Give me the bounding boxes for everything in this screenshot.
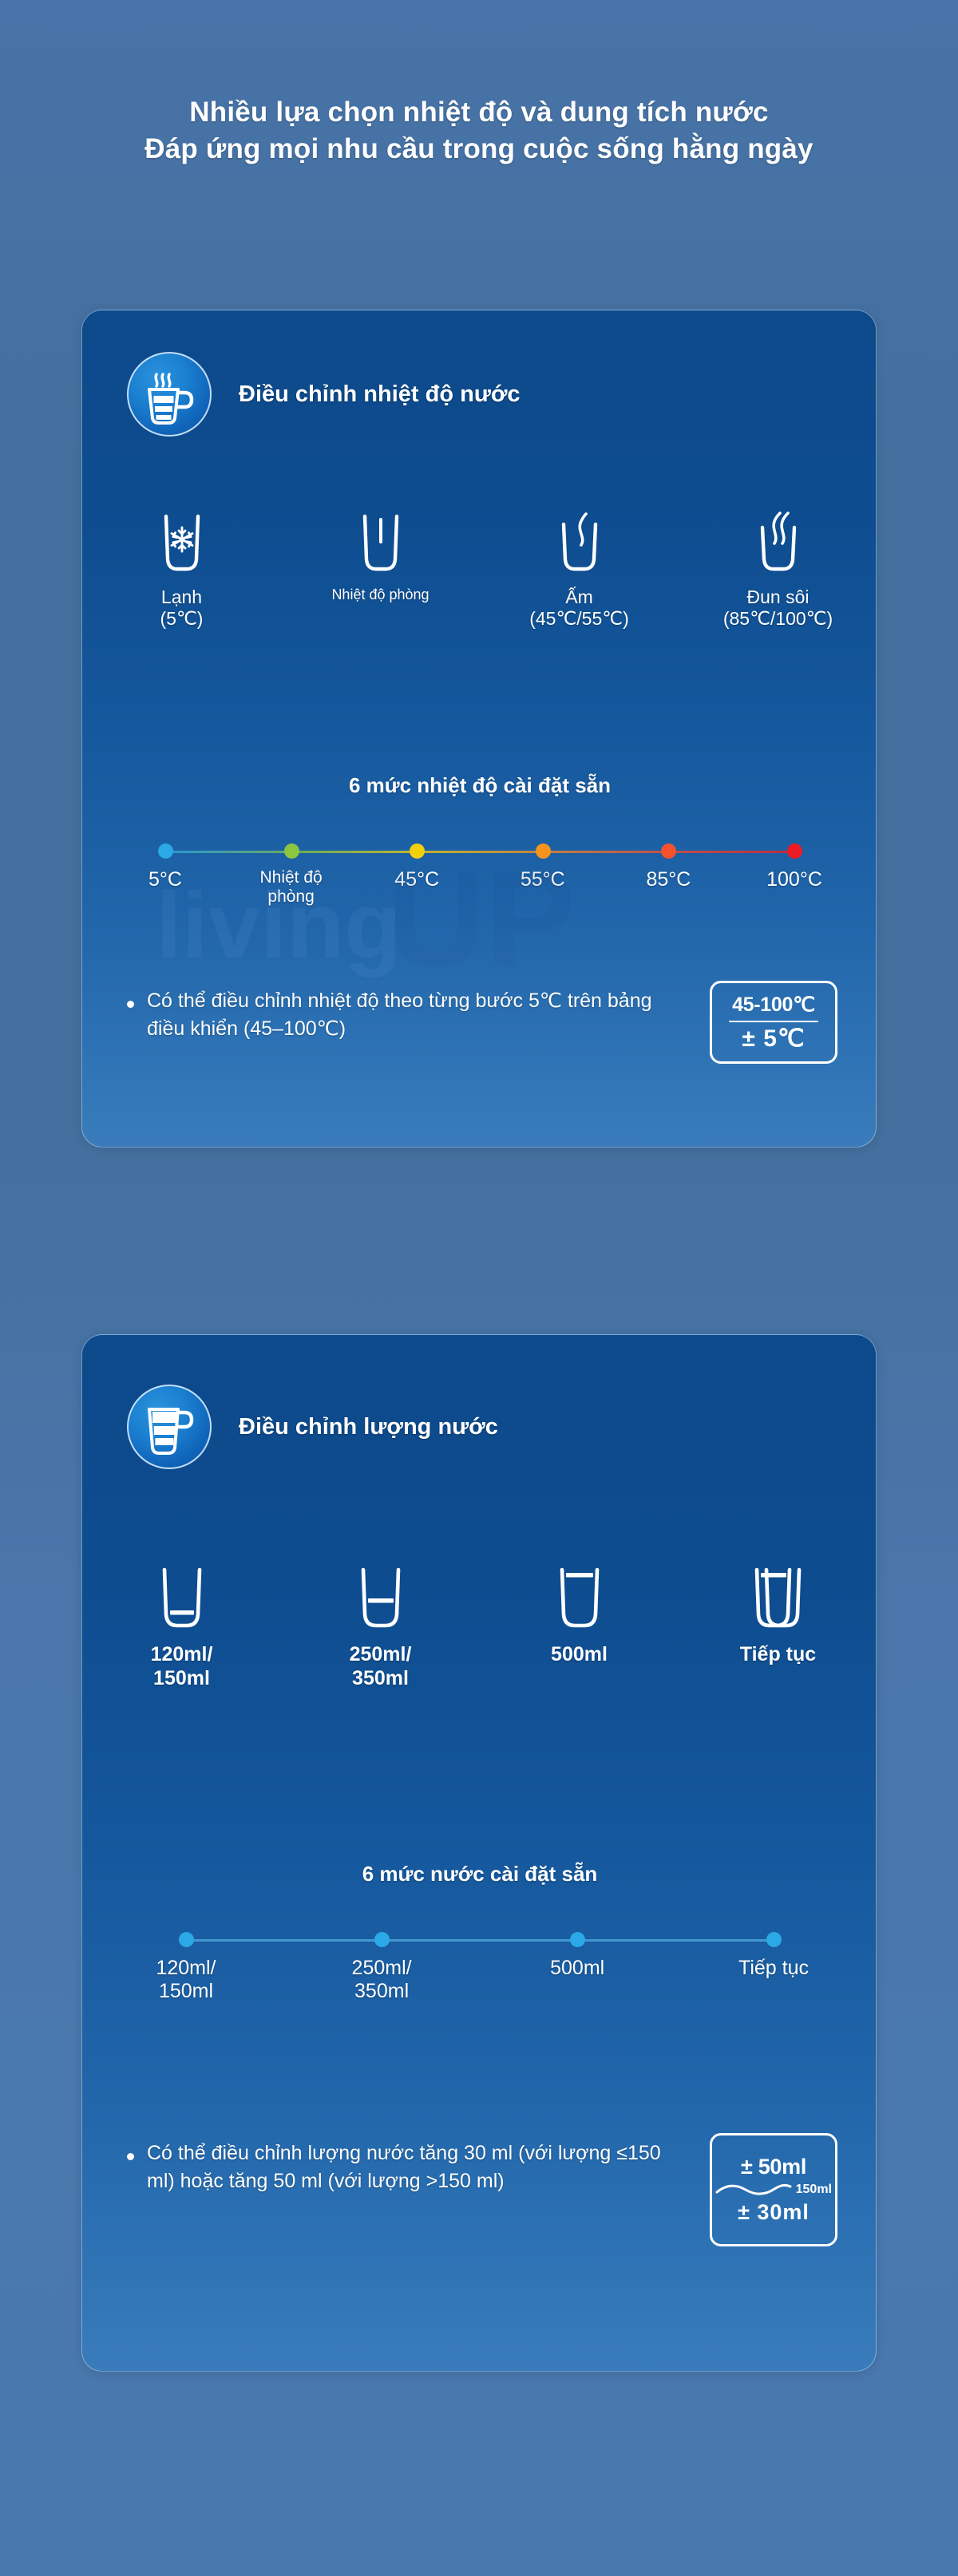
slider-dot-0[interactable] (179, 1932, 194, 1947)
temperature-note-text: Có thể điều chỉnh nhiệt độ theo từng bướ… (147, 987, 687, 1042)
volume-note-text: Có thể điều chỉnh lượng nước tăng 30 ml … (147, 2139, 687, 2195)
slider-tick-label-3: Tiếp tục (714, 1957, 833, 1980)
temperature-option-room[interactable]: Nhiệt độ phòng (281, 510, 480, 630)
volume-options-row: 120ml/ 150ml 250ml/ 350ml (82, 1567, 877, 1690)
water-wave-row: 150ml (714, 2179, 833, 2200)
volume-option-continuous-label: Tiếp tục (740, 1643, 816, 1667)
volume-option-120-150[interactable]: 120ml/ 150ml (82, 1567, 281, 1690)
volume-step-small-value: ± 30ml (738, 2200, 810, 2225)
volume-option-500[interactable]: 500ml (480, 1567, 679, 1690)
volume-slider-ticks: 120ml/150ml250ml/350ml500mlTiếp tục (82, 1957, 877, 2013)
temperature-option-cold[interactable]: Lạnh (5℃) (82, 510, 281, 630)
temperature-note-bullet: Có thể điều chỉnh nhiệt độ theo từng bướ… (127, 981, 687, 1042)
cup-continuous-icon (742, 1567, 814, 1632)
volume-wave-label: 150ml (796, 2183, 833, 2197)
volume-option-continuous[interactable]: Tiếp tục (679, 1567, 877, 1690)
cup-fill-high-icon (546, 1567, 613, 1632)
volume-option-250-350-label: 250ml/ 350ml (350, 1643, 412, 1690)
slider-tick-label-2: 500ml (517, 1957, 637, 1980)
temperature-option-warm[interactable]: Ấm (45℃/55℃) (480, 510, 679, 630)
volume-slider-rail[interactable] (186, 1939, 774, 1942)
cup-room-temp-icon (350, 510, 411, 575)
temperature-option-room-label: Nhiệt độ phòng (331, 587, 429, 603)
volume-card-header: Điều chỉnh lượng nước (127, 1385, 498, 1469)
temperature-note-row: Có thể điều chỉnh nhiệt độ theo từng bướ… (127, 981, 837, 1064)
temperature-card-title: Điều chỉnh nhiệt độ nước (239, 381, 521, 408)
temperature-card: Điều chỉnh nhiệt độ nước (81, 310, 877, 1148)
bullet-dot-icon (127, 2153, 134, 2160)
temperature-option-cold-label: Lạnh (5℃) (160, 587, 204, 630)
volume-slider-rail-wrap[interactable] (82, 1925, 877, 1957)
cup-levels-icon (127, 1385, 212, 1469)
temperature-slider-rail-wrap[interactable] (82, 836, 877, 868)
steaming-cup-icon (127, 352, 212, 437)
slider-dot-5[interactable] (787, 844, 802, 859)
temperature-step-value: ± 5℃ (742, 1025, 805, 1053)
volume-step-badge: ± 50ml 150ml ± 30ml (710, 2133, 837, 2246)
slider-tick-label-2: 45°C (394, 868, 439, 891)
slider-dot-2[interactable] (410, 844, 425, 859)
temperature-preset-slider[interactable]: 6 mức nhiệt độ cài đặt sẵn 5°CNhiệt độph… (82, 773, 877, 924)
temperature-range-value: 45-100℃ (732, 993, 815, 1017)
volume-option-500-label: 500ml (551, 1643, 608, 1667)
cup-fill-mid-icon (347, 1567, 414, 1632)
volume-option-120-150-label: 120ml/ 150ml (151, 1643, 213, 1690)
cup-snowflake-icon (152, 510, 212, 575)
slider-tick-label-3: 55°C (521, 868, 565, 891)
cup-one-steam-icon (549, 510, 610, 575)
slider-dot-0[interactable] (158, 844, 173, 859)
cup-fill-low-icon (148, 1567, 216, 1632)
slider-dot-4[interactable] (661, 844, 676, 859)
slider-dot-1[interactable] (284, 844, 299, 859)
temperature-range-badge: 45-100℃ ± 5℃ (710, 981, 837, 1064)
volume-card-title: Điều chỉnh lượng nước (239, 1414, 498, 1440)
slider-dot-3[interactable] (766, 1932, 782, 1947)
cup-two-steam-icon (748, 510, 809, 575)
volume-step-large-value: ± 50ml (741, 2155, 806, 2179)
slider-tick-label-1: 250ml/350ml (322, 1957, 441, 2003)
volume-note-row: Có thể điều chỉnh lượng nước tăng 30 ml … (127, 2133, 837, 2246)
temperature-option-boil[interactable]: Đun sôi (85℃/100℃) (679, 510, 877, 630)
temperature-options-row: Lạnh (5℃) Nhiệt độ phòng (82, 510, 877, 630)
bullet-dot-icon (127, 1001, 134, 1008)
volume-option-250-350[interactable]: 250ml/ 350ml (281, 1567, 480, 1690)
slider-tick-label-1: Nhiệt độphòng (243, 868, 339, 907)
slider-dot-2[interactable] (570, 1932, 585, 1947)
slider-tick-label-0: 5°C (148, 868, 182, 891)
page-title-line1: Nhiều lựa chọn nhiệt độ và dung tích nướ… (0, 94, 958, 131)
slider-tick-label-4: 85°C (646, 868, 691, 891)
temperature-slider-heading: 6 mức nhiệt độ cài đặt sẵn (82, 773, 877, 798)
temperature-slider-rail[interactable] (165, 851, 794, 853)
page-title-line2: Đáp ứng mọi nhu cầu trong cuộc sống hằng… (0, 131, 958, 168)
temperature-option-warm-label: Ấm (45℃/55℃) (529, 587, 629, 630)
slider-tick-label-5: 100°C (766, 868, 822, 891)
temperature-card-header: Điều chỉnh nhiệt độ nước (127, 352, 521, 437)
volume-card: Điều chỉnh lượng nước 120ml/ 150ml (81, 1334, 877, 2372)
volume-slider-heading: 6 mức nước cài đặt sẵn (82, 1862, 877, 1887)
temperature-slider-ticks: 5°CNhiệt độphòng45°C55°C85°C100°C (82, 868, 877, 924)
slider-tick-label-0: 120ml/150ml (126, 1957, 246, 2003)
slider-dot-1[interactable] (374, 1932, 390, 1947)
temperature-option-boil-label: Đun sôi (85℃/100℃) (723, 587, 833, 630)
slider-dot-3[interactable] (536, 844, 551, 859)
volume-preset-slider[interactable]: 6 mức nước cài đặt sẵn 120ml/150ml250ml/… (82, 1862, 877, 2013)
page-title: Nhiều lựa chọn nhiệt độ và dung tích nướ… (0, 94, 958, 167)
badge-divider (729, 1021, 818, 1022)
volume-note-bullet: Có thể điều chỉnh lượng nước tăng 30 ml … (127, 2133, 687, 2195)
